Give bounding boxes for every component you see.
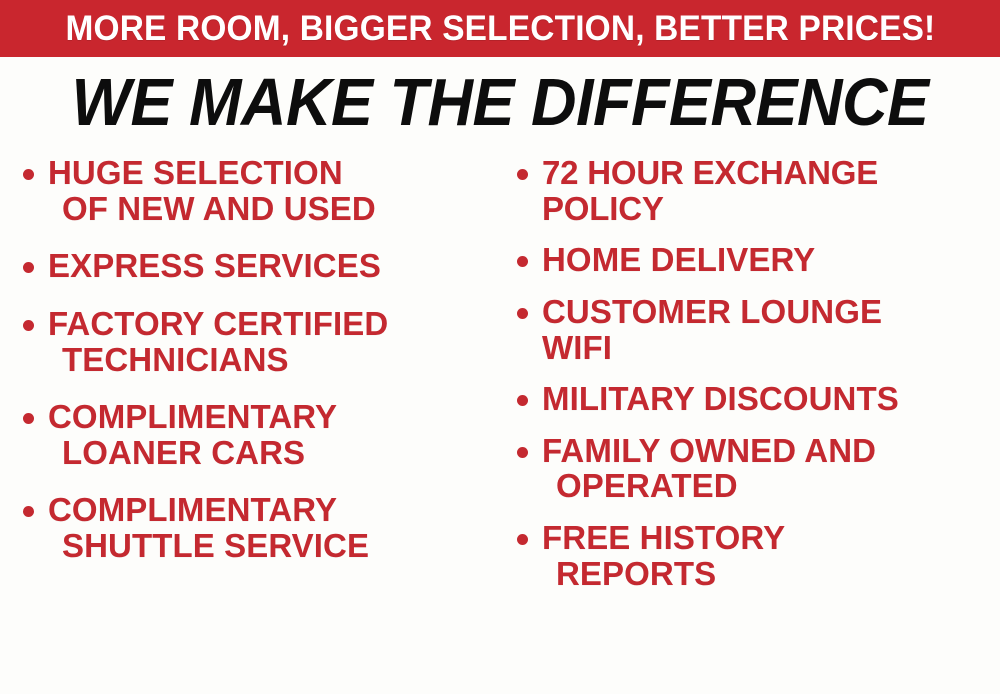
- list-item: FAMILY OWNED AND OPERATED: [508, 433, 1000, 504]
- list-item-line2: LOANER CARS: [62, 435, 494, 471]
- list-item-line1: HOME DELIVERY: [542, 241, 815, 278]
- list-item-line1: HUGE SELECTION: [48, 154, 343, 191]
- headline-container: WE MAKE THE DIFFERENCE: [0, 62, 1000, 144]
- bullet-dot-icon: [517, 534, 528, 545]
- list-item-line2: REPORTS: [556, 556, 1000, 592]
- list-item: FREE HISTORY REPORTS: [508, 520, 1000, 591]
- bullet-dot-icon: [23, 320, 34, 331]
- list-item: EXPRESS SERVICES: [14, 248, 494, 284]
- list-item-text: FAMILY OWNED AND OPERATED: [542, 433, 1000, 504]
- promo-banner-text: MORE ROOM, BIGGER SELECTION, BETTER PRIC…: [65, 11, 935, 46]
- poster-root: MORE ROOM, BIGGER SELECTION, BETTER PRIC…: [0, 0, 1000, 694]
- list-item: COMPLIMENTARY SHUTTLE SERVICE: [14, 492, 494, 563]
- list-item: HOME DELIVERY: [508, 242, 1000, 278]
- list-item-text: EXPRESS SERVICES: [48, 248, 494, 284]
- list-item-line1: COMPLIMENTARY: [48, 491, 337, 528]
- list-item-line1: COMPLIMENTARY: [48, 398, 337, 435]
- list-item-line2: OF NEW AND USED: [62, 191, 494, 227]
- list-item-text: HUGE SELECTION OF NEW AND USED: [48, 155, 494, 226]
- list-item-line2: POLICY: [542, 191, 1000, 227]
- list-item: FACTORY CERTIFIED TECHNICIANS: [14, 306, 494, 377]
- bullet-dot-icon: [23, 413, 34, 424]
- list-item: COMPLIMENTARY LOANER CARS: [14, 399, 494, 470]
- features-columns: HUGE SELECTION OF NEW AND USED EXPRESS S…: [0, 155, 1000, 694]
- list-item: CUSTOMER LOUNGE WIFI: [508, 294, 1000, 365]
- bullet-dot-icon: [517, 169, 528, 180]
- list-item-text: COMPLIMENTARY LOANER CARS: [48, 399, 494, 470]
- list-item-text: HOME DELIVERY: [542, 242, 1000, 278]
- bullet-dot-icon: [517, 308, 528, 319]
- list-item-line1: 72 HOUR EXCHANGE: [542, 154, 878, 191]
- features-column-left: HUGE SELECTION OF NEW AND USED EXPRESS S…: [14, 155, 494, 586]
- list-item-line1: MILITARY DISCOUNTS: [542, 380, 899, 417]
- list-item-line1: FAMILY OWNED AND: [542, 432, 876, 469]
- list-item-text: CUSTOMER LOUNGE WIFI: [542, 294, 1000, 365]
- list-item-line2: WIFI: [542, 330, 1000, 366]
- list-item-text: 72 HOUR EXCHANGE POLICY: [542, 155, 1000, 226]
- list-item-line1: FACTORY CERTIFIED: [48, 305, 388, 342]
- features-column-right: 72 HOUR EXCHANGE POLICY HOME DELIVERY CU…: [508, 155, 1000, 607]
- bullet-dot-icon: [23, 262, 34, 273]
- list-item-text: MILITARY DISCOUNTS: [542, 381, 1000, 417]
- list-item-line1: CUSTOMER LOUNGE: [542, 293, 882, 330]
- list-item-line2: TECHNICIANS: [62, 342, 494, 378]
- list-item-line1: FREE HISTORY: [542, 519, 785, 556]
- promo-banner: MORE ROOM, BIGGER SELECTION, BETTER PRIC…: [0, 0, 1000, 57]
- list-item: MILITARY DISCOUNTS: [508, 381, 1000, 417]
- bullet-dot-icon: [23, 506, 34, 517]
- list-item: 72 HOUR EXCHANGE POLICY: [508, 155, 1000, 226]
- list-item-text: FACTORY CERTIFIED TECHNICIANS: [48, 306, 494, 377]
- list-item-text: COMPLIMENTARY SHUTTLE SERVICE: [48, 492, 494, 563]
- list-item-line2: OPERATED: [556, 468, 1000, 504]
- list-item-line2: SHUTTLE SERVICE: [62, 528, 494, 564]
- bullet-dot-icon: [517, 395, 528, 406]
- bullet-dot-icon: [23, 169, 34, 180]
- list-item-text: FREE HISTORY REPORTS: [542, 520, 1000, 591]
- bullet-dot-icon: [517, 447, 528, 458]
- list-item-line1: EXPRESS SERVICES: [48, 247, 381, 284]
- page-title: WE MAKE THE DIFFERENCE: [71, 70, 928, 137]
- list-item: HUGE SELECTION OF NEW AND USED: [14, 155, 494, 226]
- bullet-dot-icon: [517, 256, 528, 267]
